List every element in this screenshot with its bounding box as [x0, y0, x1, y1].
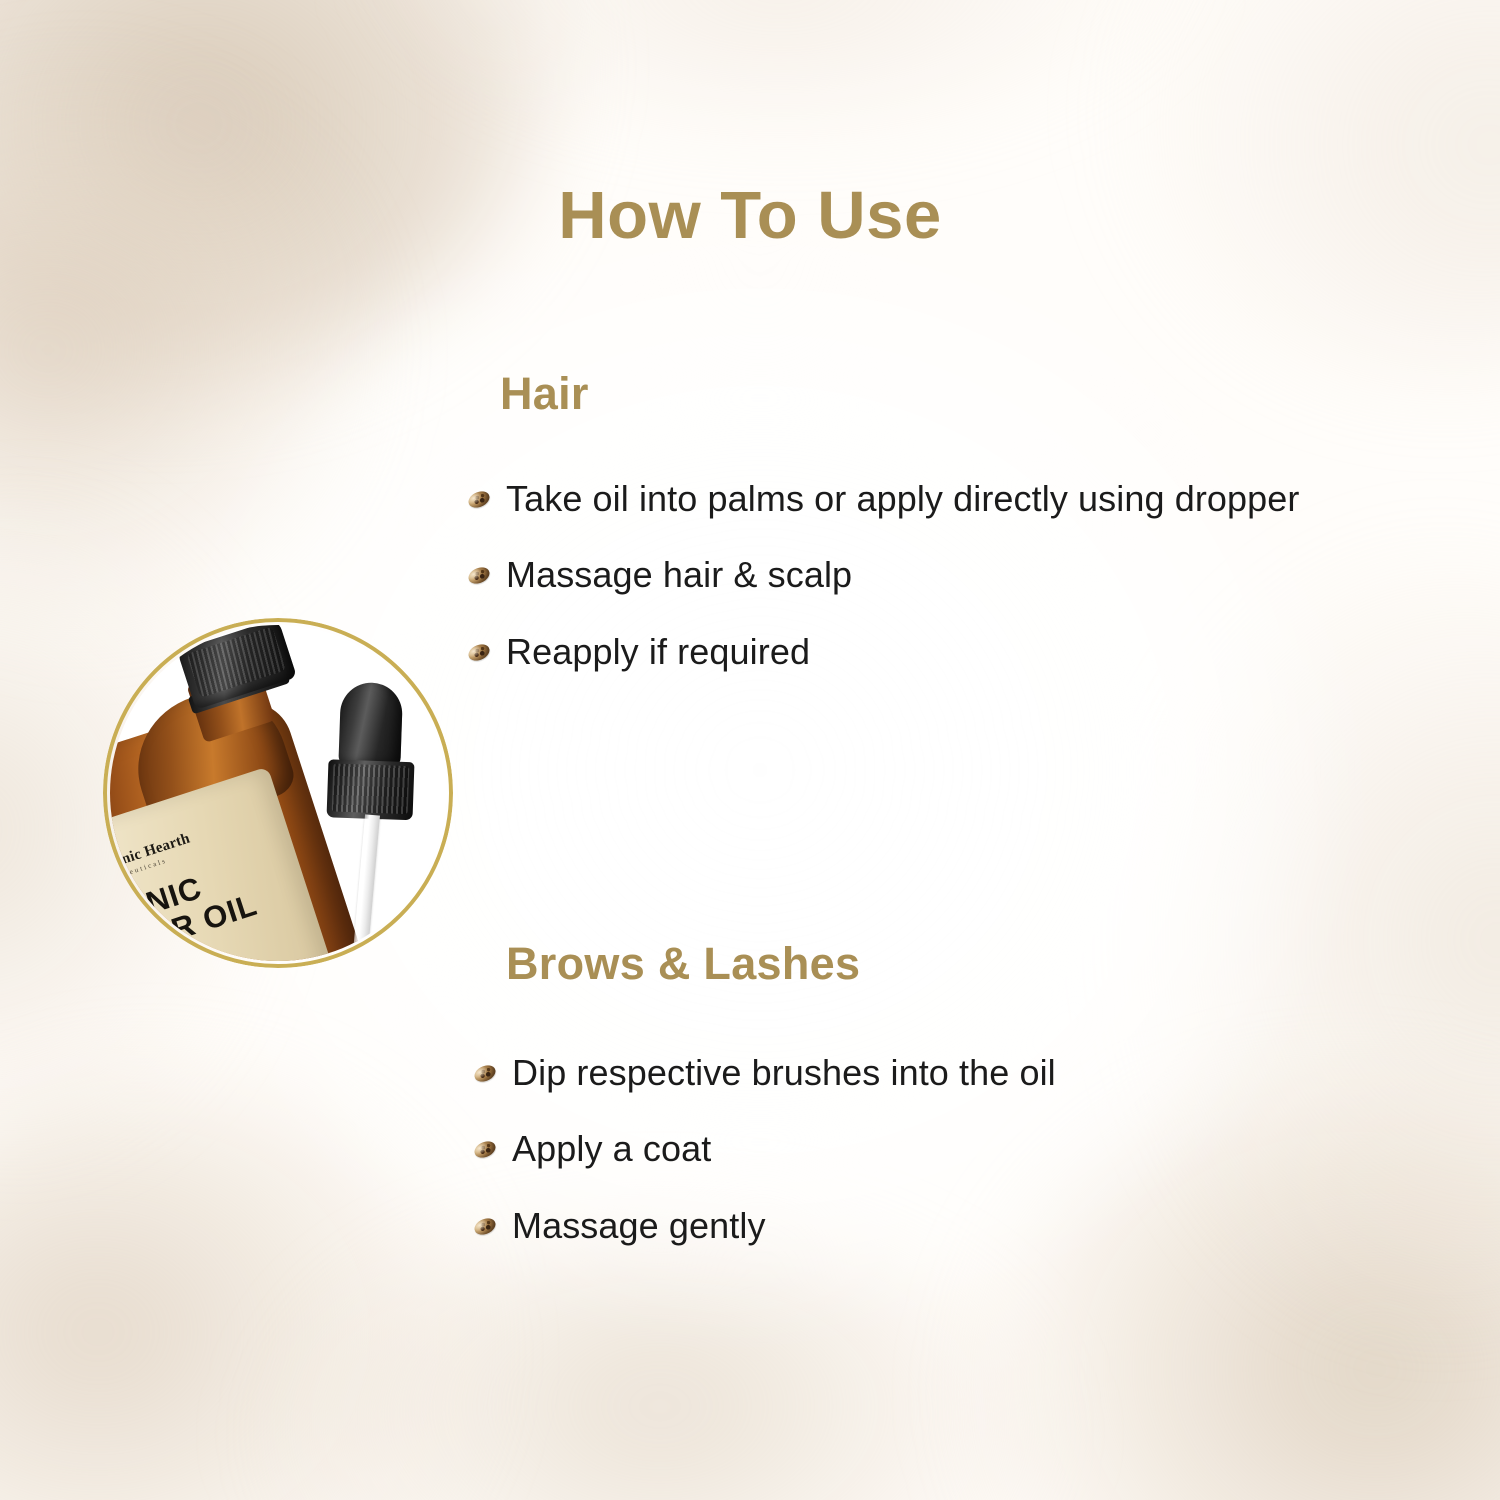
section-heading-brows-and-lashes: Brows & Lashes: [506, 938, 1466, 990]
castor-bean-icon: [466, 564, 492, 587]
list-item: Massage hair & scalp: [500, 554, 1460, 596]
castor-bean-icon: [472, 1215, 498, 1238]
list-item-label: Dip respective brushes into the oil: [512, 1052, 1056, 1094]
section-hair: BH Botanic Hearth cosmeceuticals ORGANIC…: [0, 300, 1500, 720]
brows-text-column: Brows & Lashes Dip respective brushes in…: [506, 938, 1466, 1247]
list-item: Apply a coat: [506, 1128, 1466, 1170]
list-item-label: Reapply if required: [506, 631, 810, 673]
list-item: Reapply if required: [500, 631, 1460, 673]
castor-bean-icon: [466, 488, 492, 511]
list-item: Massage gently: [506, 1205, 1466, 1247]
hair-instruction-list: Take oil into palms or apply directly us…: [500, 478, 1460, 673]
corner-wash-top-center: [380, 0, 1180, 120]
brows-instruction-list: Dip respective brushes into the oil Appl…: [506, 1052, 1466, 1247]
list-item: Take oil into palms or apply directly us…: [500, 478, 1460, 520]
castor-bean-icon: [466, 641, 492, 664]
page-title: How To Use: [0, 177, 1500, 254]
section-heading-hair: Hair: [500, 368, 1460, 420]
list-item-label: Massage gently: [512, 1205, 766, 1247]
hair-text-column: Hair Take oil into palms or apply direct…: [500, 368, 1460, 673]
list-item-label: Take oil into palms or apply directly us…: [506, 478, 1300, 520]
castor-bean-icon: [472, 1138, 498, 1161]
section-brows-and-lashes: Brows & Lashes Dip respective brushes in…: [0, 880, 1500, 1300]
list-item-label: Massage hair & scalp: [506, 554, 852, 596]
how-to-use-infographic: How To Use BH Botanic Hearth cosmeceutic…: [0, 0, 1500, 1500]
castor-bean-icon: [472, 1062, 498, 1085]
list-item-label: Apply a coat: [512, 1128, 711, 1170]
list-item: Dip respective brushes into the oil: [506, 1052, 1466, 1094]
